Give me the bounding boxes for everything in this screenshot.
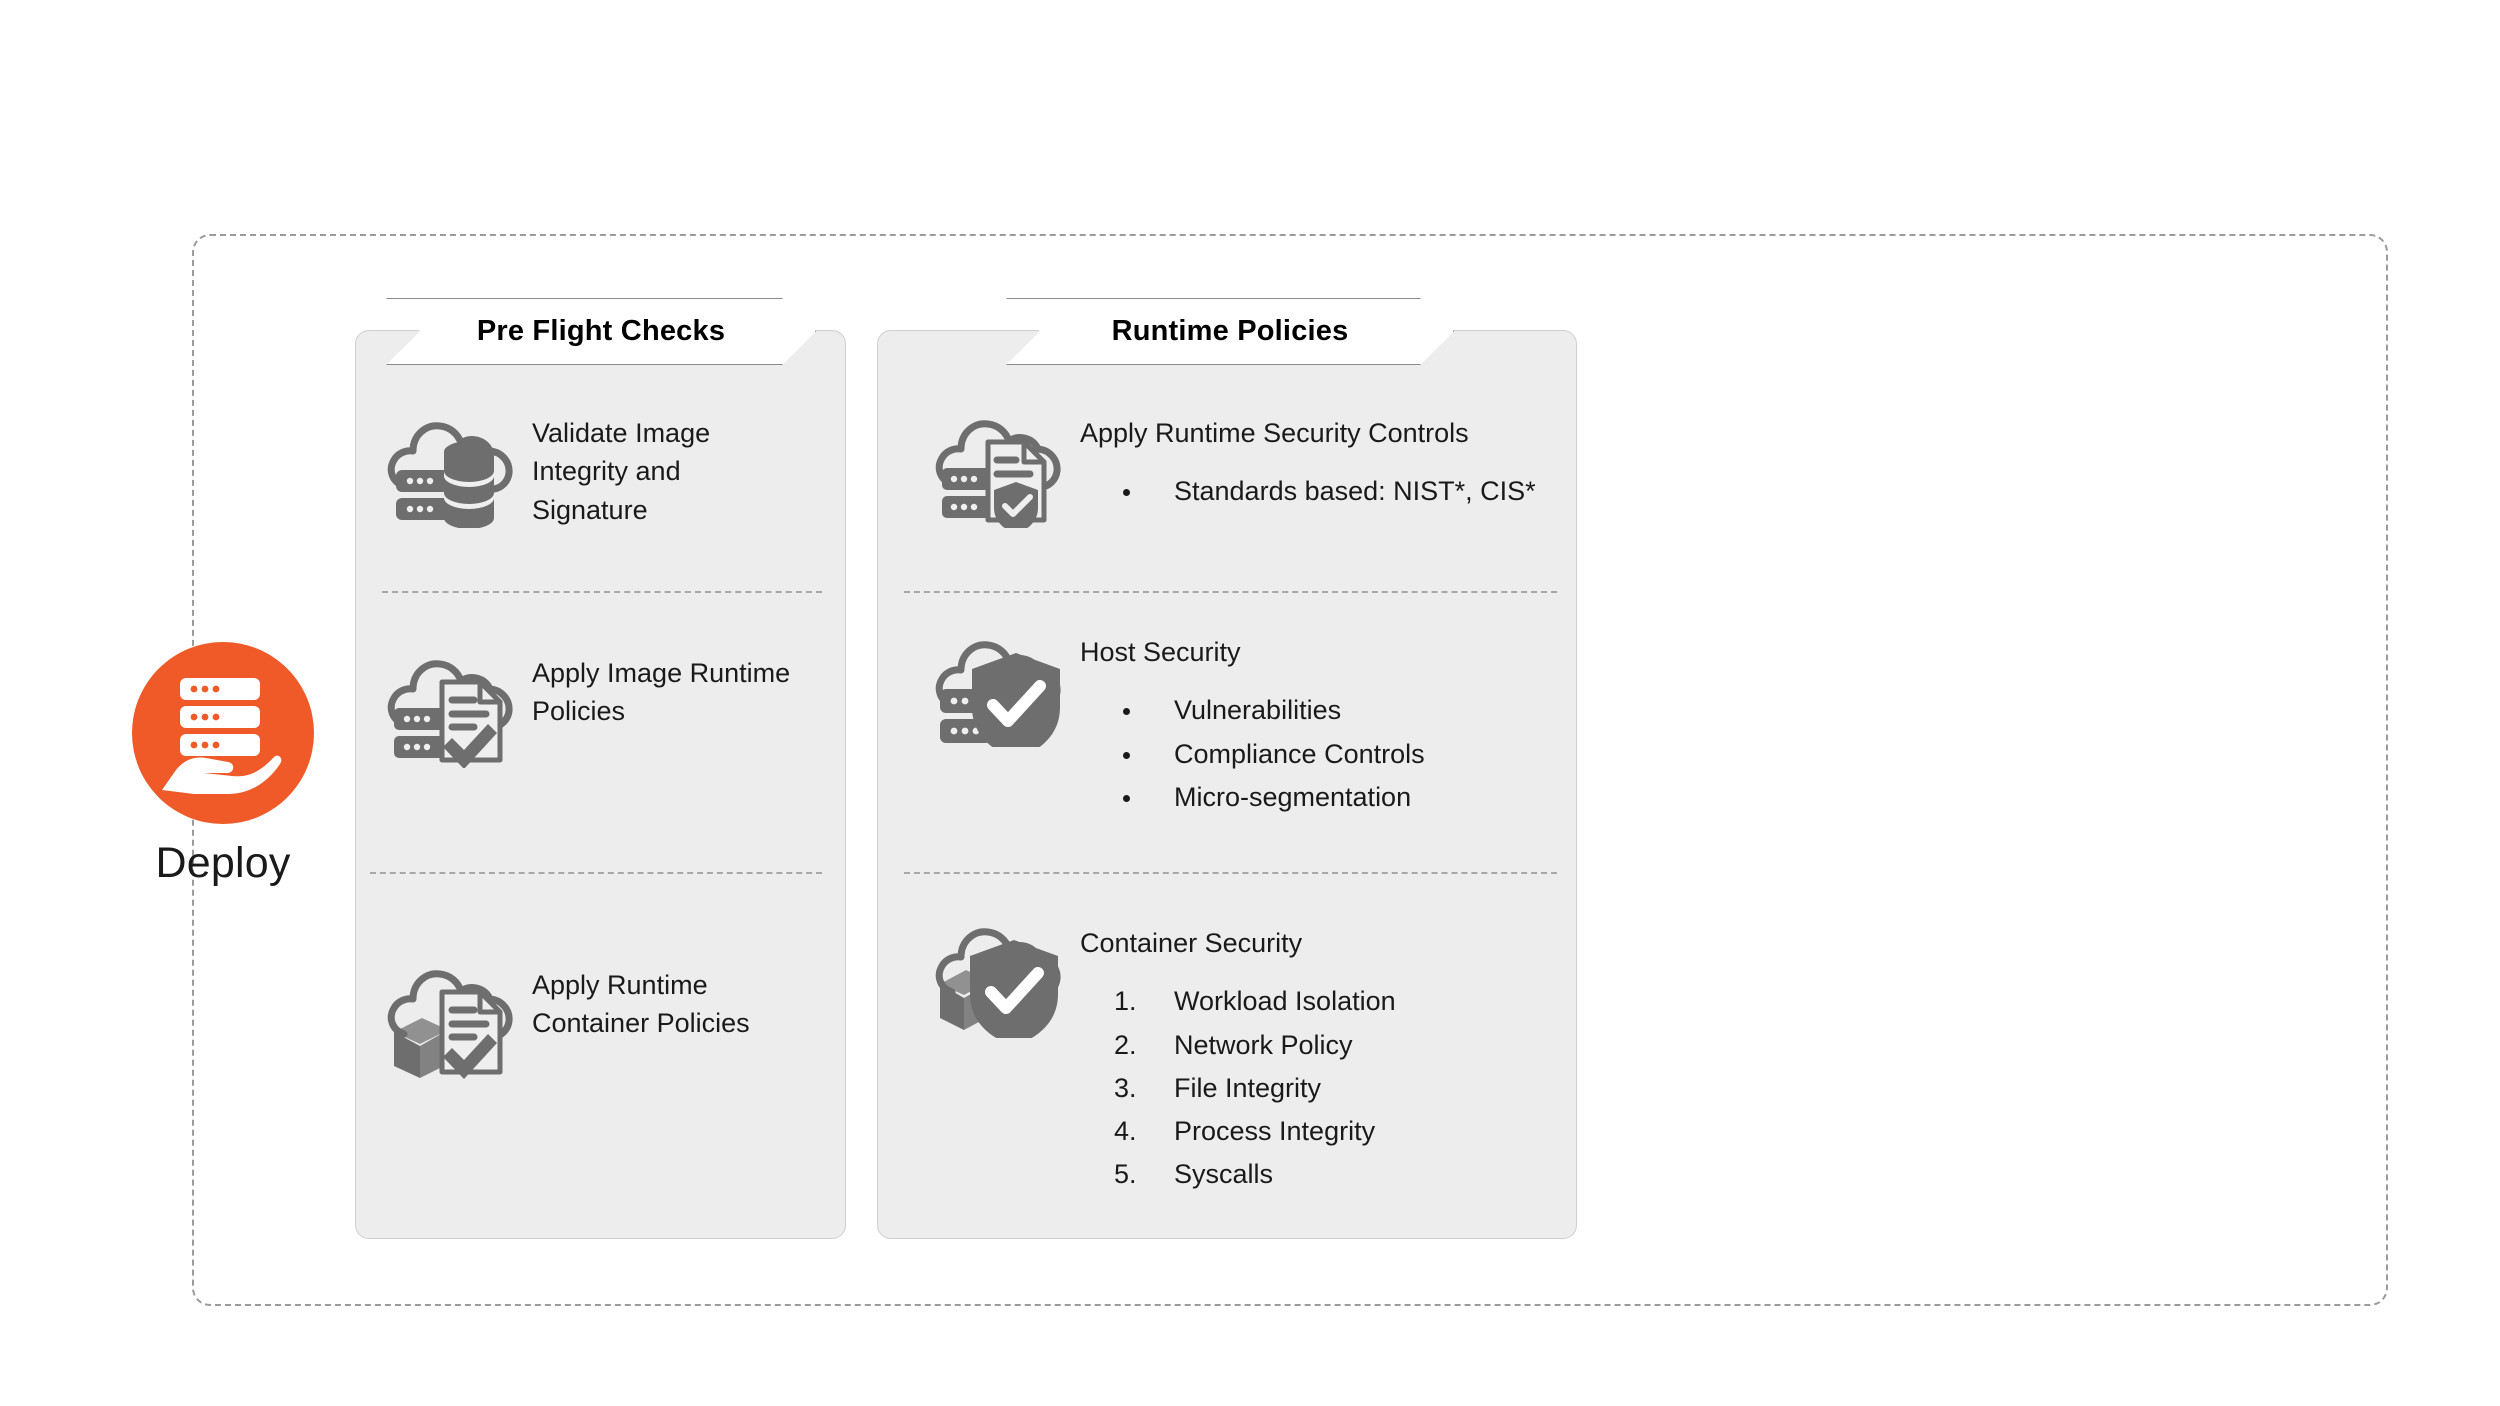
bullet-item: Compliance Controls <box>1144 733 1560 776</box>
list-item-bullets: Standards based: NIST*, CIS* <box>1080 470 1560 513</box>
list-item-title: Host Security <box>1080 633 1560 671</box>
list-item-numbers: Workload Isolation Network Policy File I… <box>1080 980 1560 1196</box>
cloud-servers-database-icon <box>382 408 518 528</box>
bullet-item: Vulnerabilities <box>1144 689 1560 732</box>
cloud-servers-document-shield-icon <box>930 408 1066 528</box>
list-item-title: Apply Runtime Security Controls <box>1080 414 1560 452</box>
numbered-item: Workload Isolation <box>1144 980 1560 1023</box>
banner-pre-flight-checks-label: Pre Flight Checks <box>477 315 725 348</box>
numbered-item: Syscalls <box>1144 1153 1560 1196</box>
panel-divider <box>370 872 822 874</box>
cloud-servers-document-check-icon <box>382 648 518 768</box>
panel-divider <box>382 591 822 593</box>
list-item-title: Apply Runtime Container Policies <box>532 966 792 1043</box>
cloud-servers-shield-check-icon <box>930 627 1066 747</box>
deploy-stage[interactable]: Deploy <box>100 642 346 887</box>
numbered-item: Process Integrity <box>1144 1110 1560 1153</box>
list-item[interactable]: Apply Image Runtime Policies <box>382 648 832 768</box>
panel-divider <box>904 872 1557 874</box>
list-item-bullets: Vulnerabilities Compliance Controls Micr… <box>1080 689 1560 819</box>
cloud-container-shield-check-icon <box>930 918 1066 1038</box>
bullet-item: Standards based: NIST*, CIS* <box>1144 470 1560 513</box>
list-item[interactable]: Container Security Workload Isolation Ne… <box>930 918 1560 1196</box>
list-item[interactable]: Host Security Vulnerabilities Compliance… <box>930 627 1560 819</box>
cloud-container-document-check-icon <box>382 960 518 1080</box>
bullet-item: Micro-segmentation <box>1144 776 1560 819</box>
banner-runtime-policies: Runtime Policies <box>1006 298 1454 365</box>
numbered-item: Network Policy <box>1144 1024 1560 1067</box>
list-item-title: Apply Image Runtime Policies <box>532 654 792 731</box>
panel-divider <box>904 591 1557 593</box>
numbered-item: File Integrity <box>1144 1067 1560 1110</box>
deploy-label: Deploy <box>100 840 346 887</box>
list-item[interactable]: Apply Runtime Security Controls Standard… <box>930 408 1560 528</box>
hand-holding-servers-icon <box>132 642 314 824</box>
banner-pre-flight-checks: Pre Flight Checks <box>386 298 816 365</box>
list-item[interactable]: Validate Image Integrity and Signature <box>382 408 832 529</box>
list-item[interactable]: Apply Runtime Container Policies <box>382 960 832 1080</box>
banner-runtime-policies-label: Runtime Policies <box>1112 315 1349 348</box>
list-item-title: Container Security <box>1080 924 1560 962</box>
list-item-title: Validate Image Integrity and Signature <box>532 414 792 529</box>
